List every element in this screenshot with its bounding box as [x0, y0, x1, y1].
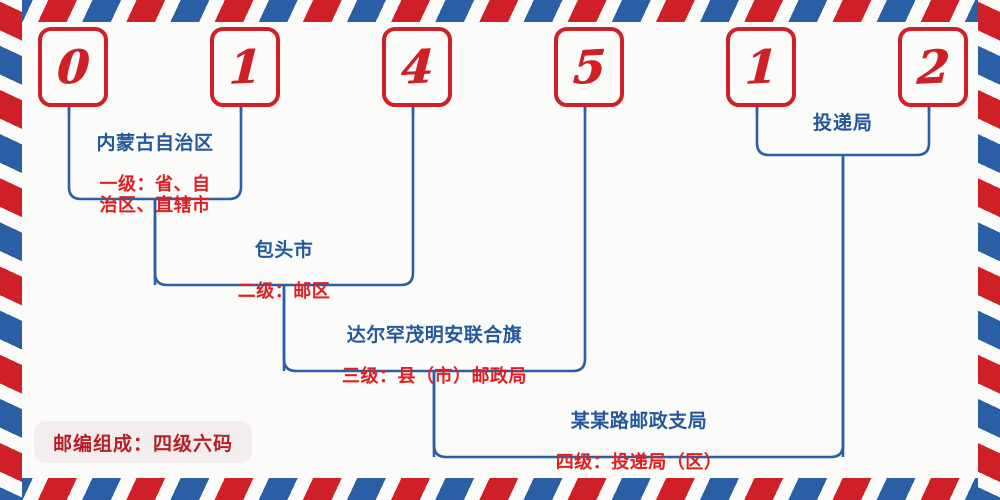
level-3-subtitle: 三级：县（市）邮政局	[292, 366, 577, 387]
postcode-digit-2: 1	[228, 43, 263, 91]
postcode-digit-box-2[interactable]: 1	[210, 27, 280, 107]
level-2-subtitle: 二级：邮区	[164, 281, 404, 302]
legend-badge: 邮编组成：四级六码	[34, 421, 252, 463]
legend-badge-text: 邮编组成：四级六码	[53, 429, 233, 456]
postcode-digit-box-4[interactable]: 5	[554, 27, 624, 107]
postcode-digit-4: 5	[572, 43, 607, 91]
postcode-digit-6: 2	[916, 43, 951, 91]
level-1-label: 内蒙古自治区 一级：省、自 治区、直辖市	[74, 113, 236, 236]
postcode-digit-5: 1	[744, 43, 779, 91]
level-4-subtitle: 四级：投递局（区）	[443, 452, 835, 473]
level-4-label: 某某路邮政支局 四级：投递局（区）	[443, 391, 835, 492]
postcode-digit-box-6[interactable]: 2	[898, 27, 968, 107]
level-4-title: 某某路邮政支局	[443, 410, 835, 432]
postcode-digit-box-3[interactable]: 4	[382, 27, 452, 107]
level-1-title: 内蒙古自治区	[74, 132, 236, 154]
postcode-diagram: 0 1 4 5 1 2 投递局 内蒙古自治区 一级：省、自 治区、直辖市 包头市…	[0, 0, 1000, 500]
level-3-title: 达尔罕茂明安联合旗	[292, 324, 577, 346]
postcode-digit-box-1[interactable]: 0	[38, 27, 108, 107]
level-1-subtitle: 一级：省、自 治区、直辖市	[74, 174, 236, 216]
postcode-digit-box-5[interactable]: 1	[726, 27, 796, 107]
postcode-digit-3: 4	[400, 43, 435, 91]
level-2-title: 包头市	[164, 239, 404, 261]
delivery-office-label: 投递局	[767, 108, 919, 135]
postcode-digit-1: 0	[56, 43, 91, 91]
